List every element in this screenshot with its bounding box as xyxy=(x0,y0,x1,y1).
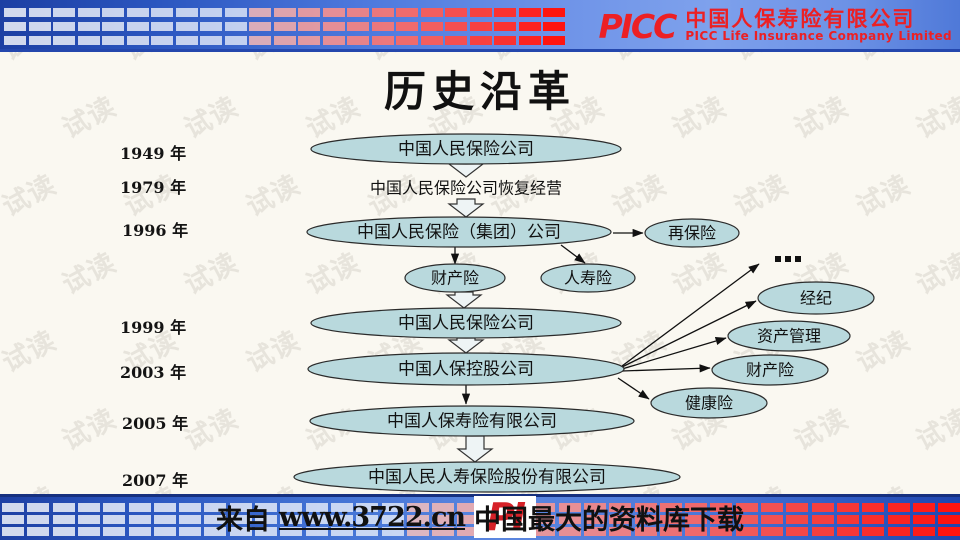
company-name-en: PICC Life Insurance Company Limited xyxy=(685,30,952,43)
decorative-square xyxy=(127,22,149,31)
timeline-year-7: 2007 年 xyxy=(122,467,188,491)
decorative-square xyxy=(53,36,75,45)
timeline-year-2: 1979 年 xyxy=(120,174,186,198)
flow-node-ellipse[interactable]: 经纪 xyxy=(758,282,874,314)
decorative-square xyxy=(396,22,418,31)
timeline-year-4: 1999 年 xyxy=(120,314,186,338)
decorative-square xyxy=(151,36,173,45)
decorative-square xyxy=(543,22,565,31)
ellipsis-marker-icon xyxy=(775,256,801,262)
decorative-square xyxy=(200,36,222,45)
timeline-year-1: 1949 年 xyxy=(120,140,186,164)
company-name-cn: 中国人保寿险有限公司 xyxy=(685,8,952,30)
decorative-square xyxy=(372,8,394,17)
decorative-square xyxy=(298,8,320,17)
decorative-square xyxy=(78,8,100,17)
decorative-square xyxy=(421,22,443,31)
decorative-square xyxy=(494,8,516,17)
decorative-square xyxy=(519,8,541,17)
flow-node-ellipse[interactable]: 中国人民保险公司 xyxy=(311,308,621,338)
decorative-square xyxy=(102,8,124,17)
block-arrow-connector xyxy=(449,164,483,177)
flow-node-ellipse[interactable]: 财产险 xyxy=(712,355,828,385)
decorative-square xyxy=(4,36,26,45)
flow-node-label: 中国人保控股公司 xyxy=(398,360,534,380)
flow-node-label: 再保险 xyxy=(668,224,716,243)
decorative-square xyxy=(347,36,369,45)
flow-node-label: 中国人民保险（集团）公司 xyxy=(357,223,561,243)
flow-node-label: 财产险 xyxy=(746,361,794,380)
decorative-square xyxy=(102,22,124,31)
footer-credit: 来自 www.3722.cn 中国最大的资料库下载 xyxy=(0,494,960,540)
decorative-square xyxy=(29,36,51,45)
flow-node-ellipse[interactable]: 资产管理 xyxy=(728,321,850,351)
decorative-square xyxy=(53,8,75,17)
decorative-square xyxy=(347,22,369,31)
decorative-square xyxy=(494,36,516,45)
line-arrow-connector xyxy=(622,264,759,366)
decorative-square xyxy=(151,22,173,31)
block-arrow-connector xyxy=(449,338,483,353)
decorative-square xyxy=(225,22,247,31)
decorative-square xyxy=(78,36,100,45)
decorative-square xyxy=(298,36,320,45)
decorative-square xyxy=(4,22,26,31)
picc-logo: PICC 中国人保寿险有限公司 PICC Life Insurance Comp… xyxy=(598,4,952,48)
decorative-square xyxy=(29,22,51,31)
flow-node-ellipse[interactable]: 中国人民保险公司 xyxy=(311,134,621,164)
decorative-square xyxy=(323,36,345,45)
flow-node-label: 中国人民保险公司恢复经营 xyxy=(370,179,562,198)
decorative-square xyxy=(4,8,26,17)
decorative-square xyxy=(274,8,296,17)
flow-node-label: 健康险 xyxy=(685,394,733,413)
block-arrow-connector xyxy=(447,292,481,308)
picc-wordmark-icon: PICC xyxy=(598,10,675,43)
flow-node-label: 中国人保寿险有限公司 xyxy=(387,412,557,432)
decorative-square xyxy=(298,22,320,31)
decorative-square xyxy=(53,22,75,31)
decorative-square xyxy=(127,8,149,17)
flow-node-label: 财产险 xyxy=(431,269,479,288)
footer-suffix: 中国最大的资料库下载 xyxy=(474,498,744,537)
slide-canvas: 试读试读试读试读试读试读试读试读试读试读试读试读试读试读试读试读试读试读试读试读… xyxy=(0,0,960,540)
footer-prefix: 来自 xyxy=(216,498,270,537)
decorative-square xyxy=(543,36,565,45)
decorative-square xyxy=(396,36,418,45)
decorative-square xyxy=(494,22,516,31)
decorative-square xyxy=(470,22,492,31)
decorative-square xyxy=(445,22,467,31)
line-arrow-connector xyxy=(561,245,585,263)
decorative-square xyxy=(249,8,271,17)
line-arrow-connector xyxy=(618,378,649,399)
line-arrow-connector xyxy=(622,338,726,369)
flow-node-ellipse[interactable]: 中国人保控股公司 xyxy=(308,353,624,385)
decorative-square xyxy=(372,36,394,45)
decorative-square xyxy=(470,8,492,17)
decorative-square xyxy=(347,8,369,17)
decorative-square xyxy=(200,22,222,31)
decorative-square xyxy=(176,36,198,45)
flow-node-label: 人寿险 xyxy=(564,269,612,288)
decorative-square xyxy=(249,36,271,45)
decorative-square xyxy=(78,22,100,31)
timeline-year-5: 2003 年 xyxy=(120,359,186,383)
node-layer: 中国人民保险公司中国人民保险公司恢复经营中国人民保险（集团）公司财产险人寿险再保… xyxy=(294,134,874,492)
flow-node-ellipse[interactable]: 再保险 xyxy=(645,219,739,247)
timeline-year-3: 1996 年 xyxy=(122,217,188,241)
decorative-square xyxy=(225,36,247,45)
decorative-square xyxy=(249,22,271,31)
decorative-square xyxy=(323,8,345,17)
timeline-year-6: 2005 年 xyxy=(122,410,188,434)
decorative-square xyxy=(421,36,443,45)
decorative-square xyxy=(274,22,296,31)
flow-node-label: 中国人民保险公司 xyxy=(398,140,534,160)
block-arrow-connector xyxy=(449,199,483,217)
flow-node-ellipse[interactable]: 中国人保寿险有限公司 xyxy=(310,406,634,436)
flow-node-label: 经纪 xyxy=(800,289,832,308)
flow-node-label: 资产管理 xyxy=(757,327,821,346)
decorative-square xyxy=(176,8,198,17)
flow-node-ellipse[interactable]: 健康险 xyxy=(651,388,767,418)
footer-bar: PI 来自 www.3722.cn 中国最大的资料库下载 xyxy=(0,494,960,540)
decorative-square xyxy=(372,22,394,31)
decorative-square xyxy=(200,8,222,17)
decorative-square xyxy=(421,8,443,17)
flow-node-label: 中国人民人寿保险股份有限公司 xyxy=(368,468,606,488)
decorative-square xyxy=(519,36,541,45)
block-arrow-connector xyxy=(458,436,492,462)
header-bar: PICC 中国人保寿险有限公司 PICC Life Insurance Comp… xyxy=(0,0,960,52)
decorative-square xyxy=(519,22,541,31)
decorative-square xyxy=(445,8,467,17)
header-divider xyxy=(0,49,960,52)
decorative-square xyxy=(470,36,492,45)
flow-node-ellipse[interactable]: 人寿险 xyxy=(541,264,635,292)
decorative-square xyxy=(151,8,173,17)
decorative-square xyxy=(127,36,149,45)
flow-node-label: 中国人民保险公司 xyxy=(398,314,534,334)
flow-node-ellipse[interactable]: 财产险 xyxy=(405,264,505,292)
line-arrow-connector xyxy=(622,368,710,371)
decorative-square xyxy=(396,8,418,17)
decorative-square xyxy=(323,22,345,31)
decorative-square xyxy=(29,8,51,17)
decorative-square xyxy=(274,36,296,45)
footer-url-link[interactable]: www.3722.cn xyxy=(279,502,465,533)
decorative-square xyxy=(445,36,467,45)
decorative-square xyxy=(225,8,247,17)
decorative-square xyxy=(102,36,124,45)
page-title: 历史沿革 xyxy=(0,58,960,119)
flow-node-ellipse[interactable]: 中国人民保险（集团）公司 xyxy=(307,217,611,247)
decorative-square xyxy=(176,22,198,31)
decorative-square xyxy=(543,8,565,17)
flow-node-text[interactable]: 中国人民保险公司恢复经营 xyxy=(370,179,562,198)
flow-node-ellipse[interactable]: 中国人民人寿保险股份有限公司 xyxy=(294,462,680,492)
